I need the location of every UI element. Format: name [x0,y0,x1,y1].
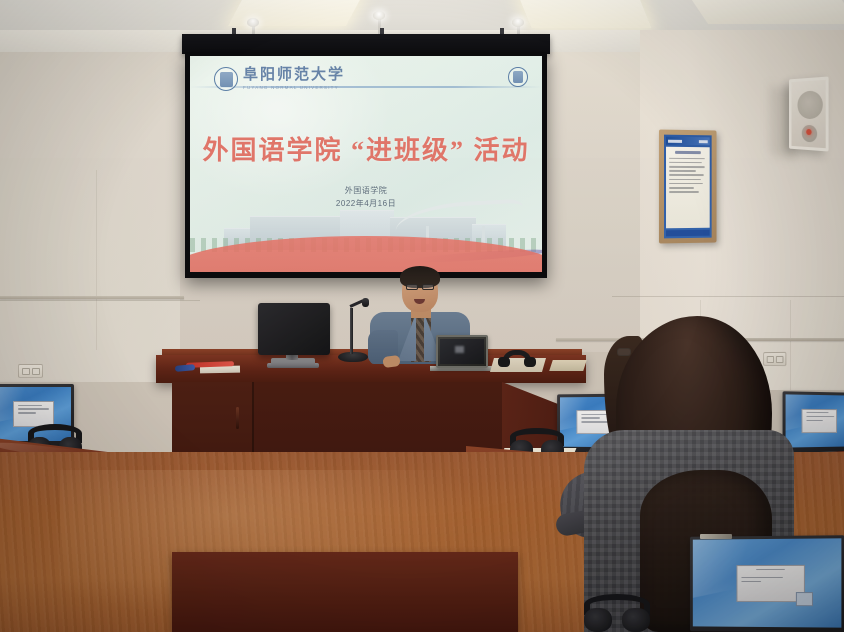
university-name-cn: 阜阳师范大学 [243,68,345,83]
cabinet-handle [236,407,239,429]
notice-board-footer [666,230,710,237]
headphone-cup [498,357,510,367]
notice-text-line [669,166,704,168]
left-wall [0,52,180,382]
notice-text-line [669,191,699,193]
notice-header-mark [668,139,682,142]
headphone-cup [524,357,536,367]
presenter-laptop[interactable] [436,335,488,368]
notice-header-mark [699,140,708,143]
outlet-socket [775,355,783,362]
laptop-screen-glare [455,346,465,352]
microphone-stem [350,308,353,354]
ceiling-light-panel [692,0,844,24]
notice-board-inner [664,135,712,239]
monitor-screen [786,394,844,447]
notice-text-line [669,178,701,180]
notice-text-line [669,170,696,172]
desk-folder[interactable] [549,360,587,371]
notice-text-line [669,162,702,164]
student-glasses [617,348,631,356]
speaker-power-led-icon [806,129,811,135]
university-seal-icon [214,67,238,91]
wall-tile-line [790,300,791,390]
podium-base [172,552,518,632]
screen-valance [182,34,550,54]
headphone-cup [584,608,612,632]
classroom-photo: 阜阳师范大学 FUYANG NORMAL UNIVERSITY 外国语学院 “进… [0,0,844,632]
notice-board-header [666,137,710,146]
presenter-monitor[interactable] [258,303,330,355]
wall-outlet[interactable] [18,364,43,378]
presenter-glasses [406,284,418,290]
university-logo: 阜阳师范大学 FUYANG NORMAL UNIVERSITY [214,67,345,91]
spotlight-icon [512,18,524,27]
gooseneck-microphone[interactable] [362,298,369,307]
outlet-socket [22,368,30,375]
wall-speaker [789,76,829,151]
notice-title-line [675,151,701,154]
notice-text-line [669,183,703,185]
university-logo-secondary [508,67,528,87]
university-seal-icon [508,67,528,87]
monitor-label [700,534,732,539]
notice-board-paper [666,147,710,229]
wall-outlet[interactable] [763,352,786,366]
notice-text-line [669,174,704,176]
ceiling-light-panel [519,0,652,28]
university-name-en: FUYANG NORMAL UNIVERSITY [243,85,345,90]
presenter-glasses-bridge [418,286,423,287]
student-monitor[interactable] [783,391,844,452]
headphone-cup [622,608,650,632]
notice-text-line [669,157,705,159]
notice-board [659,129,717,243]
wall-seam [0,300,200,301]
seal-inner-icon [220,72,233,87]
seal-inner-icon [513,71,523,83]
speaker-cone [797,90,822,119]
presentation-slide: 阜阳师范大学 FUYANG NORMAL UNIVERSITY 外国语学院 “进… [190,56,542,272]
campus-illustration [190,186,542,272]
screen-dialog-button [796,592,813,606]
headphones[interactable] [584,594,650,632]
wall-seam [612,296,844,297]
outlet-socket [32,368,40,375]
presenter-glasses [422,284,434,290]
foreground-monitor[interactable] [690,535,844,632]
spotlight-icon [373,11,385,20]
slide-title: 外国语学院 “进班级” 活动 [190,130,542,167]
wall-trim-rail [0,296,184,299]
projection-screen: 阜阳师范大学 FUYANG NORMAL UNIVERSITY 外国语学院 “进… [185,52,547,278]
wall-tile-line [96,170,97,350]
outlet-socket [766,356,773,363]
notice-text-line [669,187,694,189]
monitor-screen [693,538,842,627]
microphone-base [338,352,368,362]
spotlight-icon [247,18,259,27]
